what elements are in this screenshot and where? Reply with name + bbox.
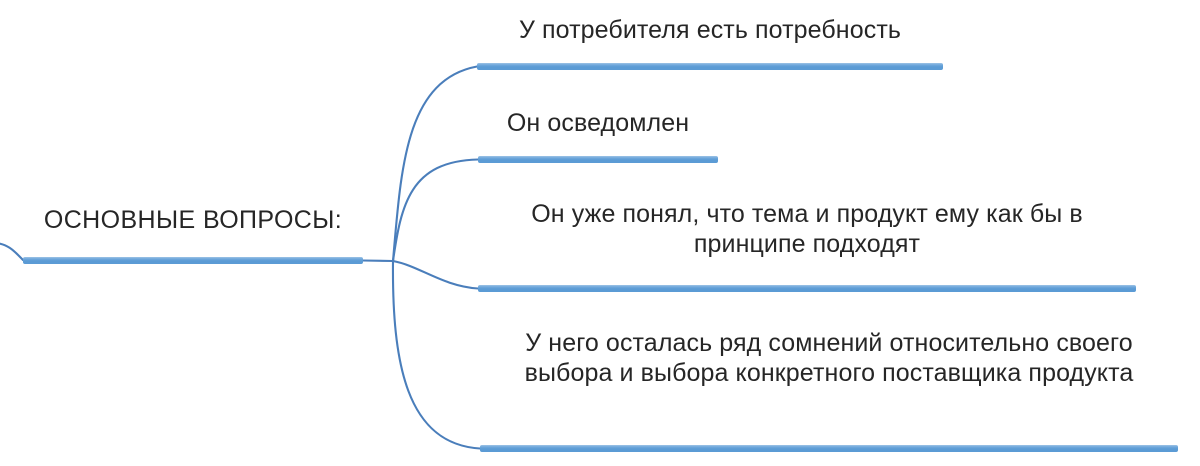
connector-branch-2 [393, 160, 478, 262]
branch-label-4: У него осталась ряд сомнений относительн… [480, 329, 1178, 388]
root-bar[interactable] [23, 257, 363, 264]
branch-label-1: У потребителя есть потребность [447, 16, 973, 46]
root-tail-connector [0, 243, 23, 260]
branch-bar-4[interactable] [480, 445, 1178, 452]
branch-label-3: Он уже понял, что тема и продукт ему как… [478, 200, 1136, 259]
connector-branch-4 [393, 261, 480, 449]
connector-branch-1 [393, 67, 477, 262]
branch-bar-1[interactable] [477, 63, 943, 70]
mindmap-canvas: ОСНОВНЫЕ ВОПРОСЫ: У потребителя есть пот… [0, 0, 1200, 466]
root-node-label: ОСНОВНЫЕ ВОПРОСЫ: [23, 206, 363, 236]
branch-bar-2[interactable] [478, 156, 718, 163]
connector-branch-3 [393, 261, 478, 289]
branch-label-2: Он осведомлен [448, 109, 748, 139]
branch-bar-3[interactable] [478, 285, 1136, 292]
root-stem-connector [363, 261, 393, 262]
